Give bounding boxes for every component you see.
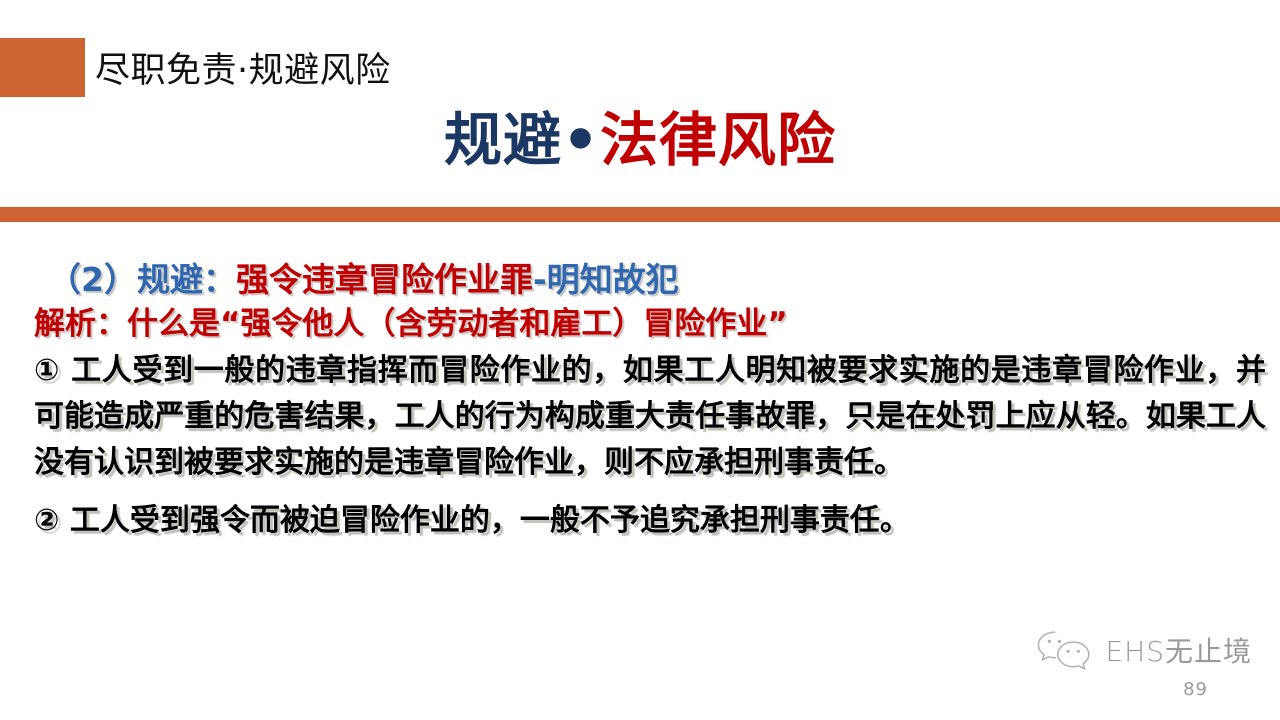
section-heading-crime-name: 强令违章冒险作业罪: [236, 260, 533, 299]
orange-divider: [0, 207, 1280, 222]
page-title: 规避•法律风险: [0, 104, 1280, 176]
header-accent-block: [0, 38, 85, 97]
page-title-part-navy: 规避: [444, 106, 562, 174]
section-heading-secondary: 解析：什么是“强令他人（含劳动者和雇工）冒险作业”: [34, 302, 1274, 346]
section-heading-prefix: （2）规避：: [48, 260, 236, 299]
section-heading-suffix: -明知故犯: [533, 260, 679, 299]
body-paragraph-1: ① 工人受到一般的违章指挥而冒险作业的，如果工人明知被要求实施的是违章冒险作业，…: [34, 348, 1266, 486]
page-number: 89: [1183, 679, 1208, 700]
wechat-icon: [1033, 628, 1095, 672]
watermark-label: EHS无止境: [1105, 630, 1252, 670]
body-paragraph-2: ② 工人受到强令而被迫冒险作业的，一般不予追究承担刑事责任。: [34, 498, 1266, 544]
slide-canvas: 尽职免责·规避风险 规避•法律风险 （2）规避：强令违章冒险作业罪-明知故犯 解…: [0, 0, 1280, 720]
watermark: EHS无止境: [1033, 628, 1252, 672]
content-body: （2）规避：强令违章冒险作业罪-明知故犯 解析：什么是“强令他人（含劳动者和雇工…: [34, 258, 1274, 544]
body-paragraphs: ① 工人受到一般的违章指挥而冒险作业的，如果工人明知被要求实施的是违章冒险作业，…: [34, 348, 1266, 544]
page-title-separator: •: [562, 106, 600, 174]
page-title-part-red: 法律风险: [600, 106, 836, 174]
section-heading-primary: （2）规避：强令违章冒险作业罪-明知故犯: [34, 258, 1274, 302]
breadcrumb: 尽职免责·规避风险: [95, 38, 391, 97]
